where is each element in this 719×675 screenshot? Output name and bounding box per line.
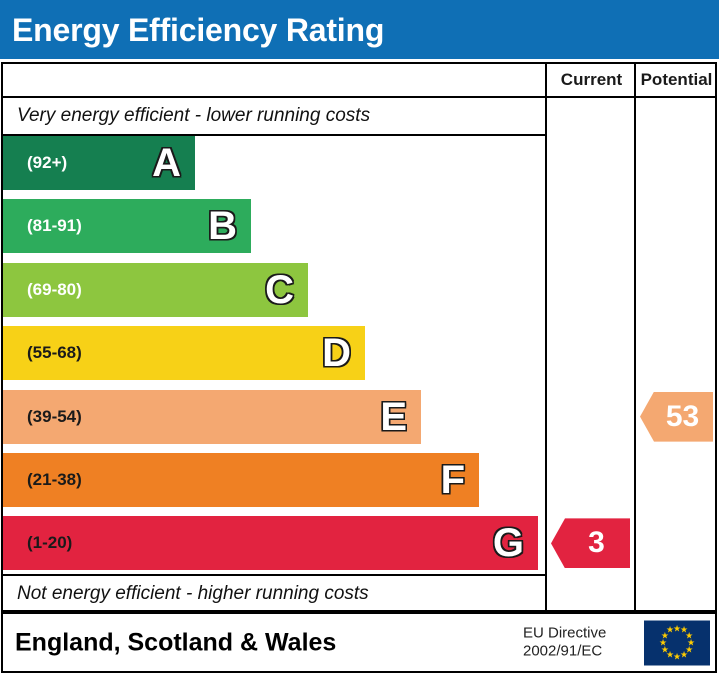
column-divider-left bbox=[545, 98, 547, 612]
band-list: (92+)A(81-91)B(69-80)C(55-68)D(39-54)E(2… bbox=[3, 136, 545, 574]
potential-rating-marker: 53 bbox=[640, 392, 713, 442]
eu-star-icon: ★ bbox=[666, 626, 675, 635]
column-header-potential: Potential bbox=[634, 64, 717, 96]
band-range-label: (81-91) bbox=[3, 216, 82, 236]
chart-header: Energy Efficiency Rating bbox=[0, 0, 719, 59]
band-letter-label: D bbox=[322, 333, 351, 373]
band-letter-label: A bbox=[152, 143, 181, 183]
band-range-label: (69-80) bbox=[3, 280, 82, 300]
column-header-current: Current bbox=[545, 64, 636, 96]
column-header-row: Current Potential bbox=[3, 64, 715, 98]
band-e: (39-54)E bbox=[3, 390, 421, 444]
band-letter-label: C bbox=[265, 270, 294, 310]
band-range-label: (21-38) bbox=[3, 470, 82, 490]
potential-rating-value: 53 bbox=[654, 402, 699, 432]
band-range-label: (92+) bbox=[3, 153, 67, 173]
band-range-label: (1-20) bbox=[3, 533, 72, 553]
band-d: (55-68)D bbox=[3, 326, 365, 380]
caption-inefficient: Not energy efficient - higher running co… bbox=[3, 576, 545, 612]
band-g: (1-20)G bbox=[3, 516, 538, 570]
chart-footer: England, Scotland & Wales EU Directive 2… bbox=[1, 612, 717, 673]
band-b: (81-91)B bbox=[3, 199, 251, 253]
band-letter-label: E bbox=[380, 397, 407, 437]
band-range-label: (39-54) bbox=[3, 407, 82, 427]
band-letter-label: B bbox=[208, 206, 237, 246]
band-range-label: (55-68) bbox=[3, 343, 82, 363]
band-c: (69-80)C bbox=[3, 263, 308, 317]
page-title: Energy Efficiency Rating bbox=[0, 14, 384, 46]
directive-line-1: EU Directive bbox=[523, 624, 606, 643]
energy-efficiency-rating-chart: Energy Efficiency Rating Current Potenti… bbox=[0, 0, 719, 675]
current-rating-value: 3 bbox=[576, 528, 605, 558]
caption-efficient: Very energy efficient - lower running co… bbox=[3, 98, 545, 134]
band-letter-label: G bbox=[493, 523, 524, 563]
footer-directive-label: EU Directive 2002/91/EC bbox=[523, 624, 606, 662]
eu-flag-icon: ★★★★★★★★★★★★ bbox=[644, 620, 710, 665]
band-letter-label: F bbox=[441, 460, 465, 500]
footer-region-label: England, Scotland & Wales bbox=[15, 628, 336, 657]
chart-body: Current Potential Very energy efficient … bbox=[1, 62, 717, 612]
band-a: (92+)A bbox=[3, 136, 195, 190]
directive-line-2: 2002/91/EC bbox=[523, 643, 606, 662]
band-f: (21-38)F bbox=[3, 453, 479, 507]
current-rating-marker: 3 bbox=[551, 518, 630, 568]
column-divider-right bbox=[634, 98, 636, 612]
